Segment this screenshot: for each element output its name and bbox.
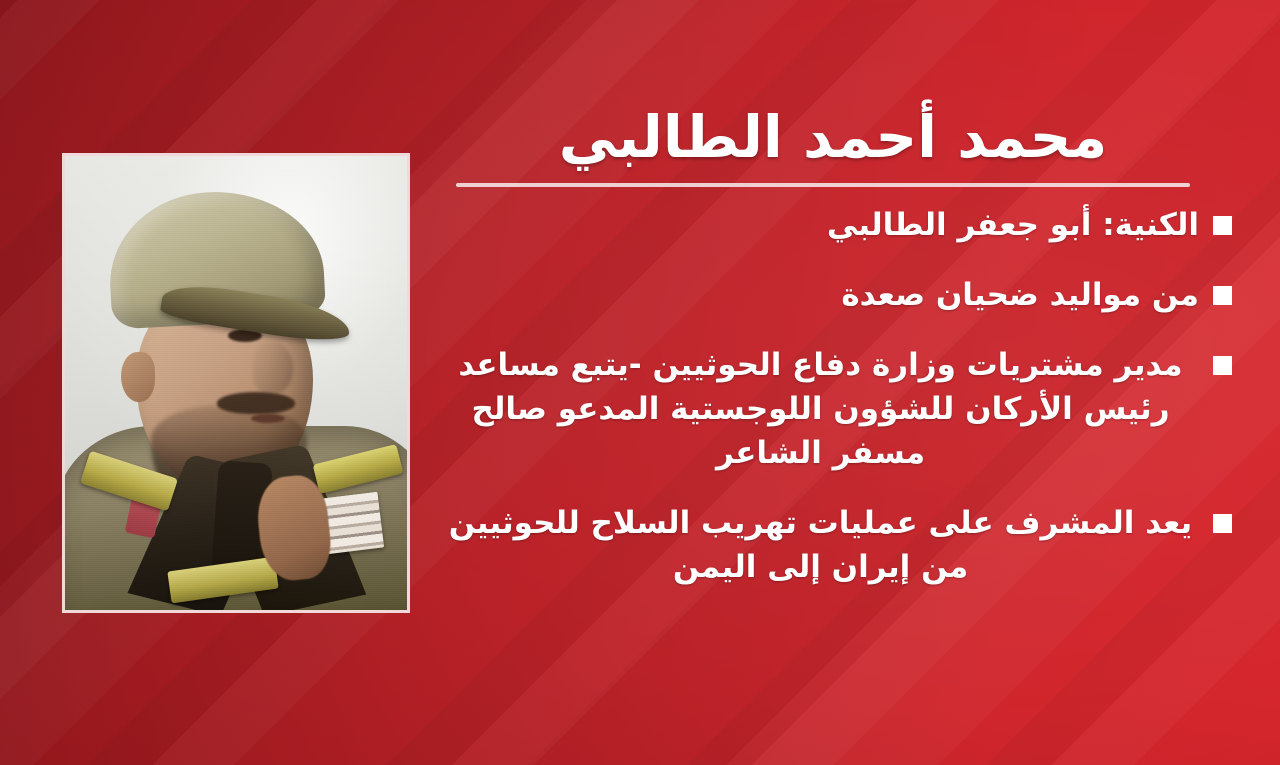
square-bullet-icon [1213,514,1232,533]
portrait-photo-frame [62,153,410,613]
square-bullet-icon [1213,356,1232,375]
profile-card: محمد أحمد الطالبي الكنية: أبو جعفر الطال… [0,0,1280,765]
list-item-label: مدير مشتريات وزارة دفاع الحوثيين -يتبع م… [442,343,1199,475]
list-item: يعد المشرف على عمليات تهريب السلاح للحوث… [442,501,1232,589]
square-bullet-icon [1213,216,1232,235]
portrait-photo [65,156,407,610]
list-item-label: من مواليد ضحيان صعدة [442,273,1199,317]
list-item: الكنية: أبو جعفر الطالبي [442,203,1232,247]
details-list: الكنية: أبو جعفر الطالبي من مواليد ضحيان… [442,203,1232,589]
list-item-label: الكنية: أبو جعفر الطالبي [442,203,1199,247]
page-title: محمد أحمد الطالبي [442,104,1232,171]
info-panel: محمد أحمد الطالبي الكنية: أبو جعفر الطال… [442,104,1232,589]
list-item-label: يعد المشرف على عمليات تهريب السلاح للحوث… [442,501,1199,589]
title-divider [456,183,1190,187]
square-bullet-icon [1213,286,1232,305]
list-item: من مواليد ضحيان صعدة [442,273,1232,317]
list-item: مدير مشتريات وزارة دفاع الحوثيين -يتبع م… [442,343,1232,475]
photo-grain-overlay [65,156,407,610]
